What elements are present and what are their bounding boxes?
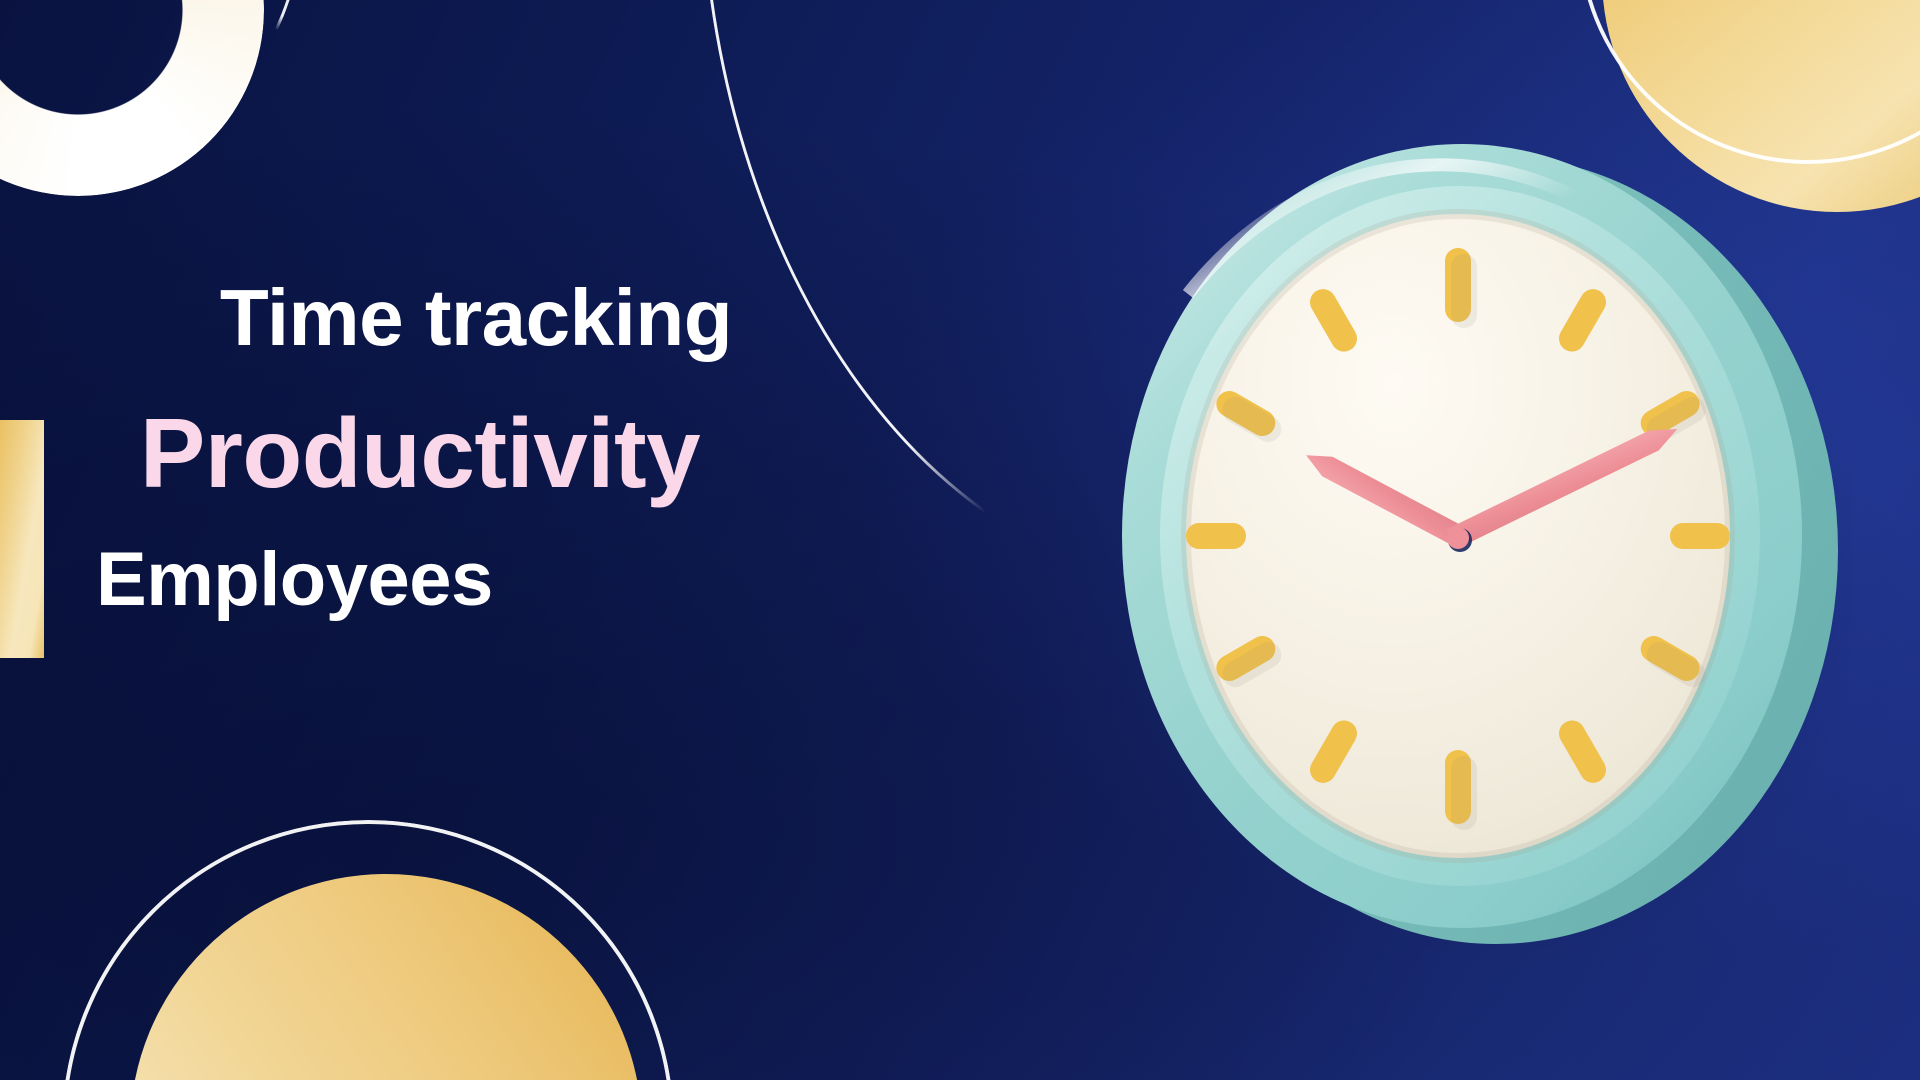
gold-disc-bottom-left-icon bbox=[130, 874, 642, 1080]
headline-line-time-tracking: Time tracking bbox=[0, 278, 980, 358]
slide-canvas: Time tracking Productivity Employees bbox=[0, 0, 1920, 1080]
white-ring-bottom-left-icon bbox=[62, 820, 674, 1080]
white-arc-top-left-icon bbox=[0, 0, 304, 194]
headline-line-employees: Employees bbox=[0, 542, 980, 618]
wall-clock-image bbox=[1092, 98, 1852, 978]
headline-block: Time tracking Productivity Employees bbox=[0, 278, 980, 618]
headline-line-productivity: Productivity bbox=[0, 404, 980, 502]
gold-ring-top-left-icon bbox=[0, 0, 264, 196]
